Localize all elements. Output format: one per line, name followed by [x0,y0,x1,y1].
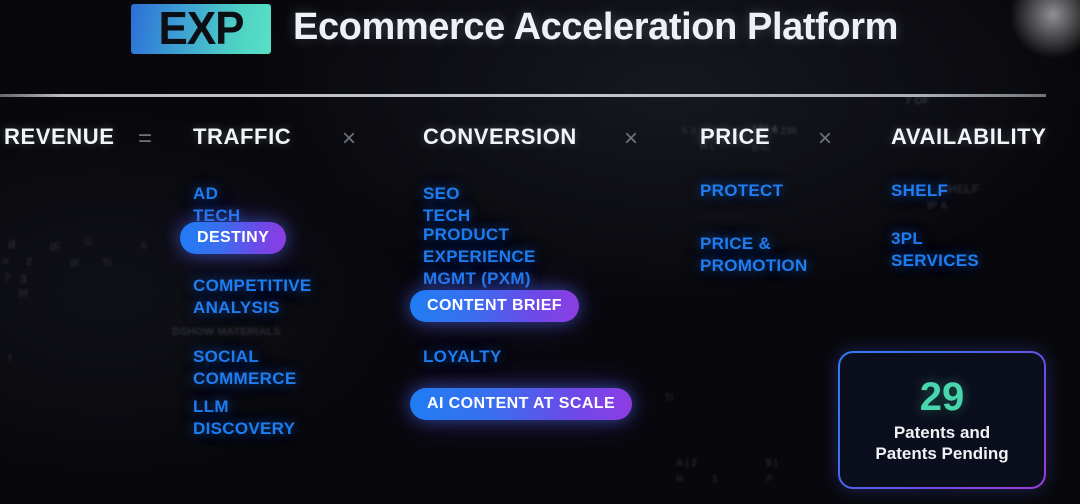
patents-card: 29 Patents and Patents Pending [838,351,1046,489]
background-artifact-text: 5 | [766,458,777,469]
item-social-commerce: SOCIAL COMMERCE [193,346,296,390]
item-llm-discovery: LLM DISCOVERY [193,396,295,440]
header-divider [0,94,1046,97]
logo-glare-icon [1008,0,1080,60]
background-artifact-text: DSHOW MATERIALS [172,326,281,338]
background-artifact-text: 1 [712,474,718,485]
background-artifact-text: t [8,352,12,364]
item-ad-tech: AD TECH [193,183,240,227]
background-artifact-text: 3 [20,272,27,286]
background-artifact-text: P [766,474,773,485]
exp-logo: EXP [131,4,271,54]
background-artifact-text: 4 [140,240,146,252]
background-artifact-text: 7 [4,272,10,284]
patents-count: 29 [920,377,965,417]
patents-card-inner: 29 Patents and Patents Pending [840,353,1044,487]
operator-multiply-icon: × [342,125,356,153]
slide-header: EXP Ecommerce Acceleration Platform [0,0,1080,95]
item-price-promotion: PRICE & PROMOTION [700,233,808,277]
background-artifact-text: Ti [664,392,674,404]
background-artifact-text: A | 2 [676,458,697,469]
equation-term-price: PRICE [700,124,770,150]
background-artifact-text: iF [50,240,61,254]
item-competitive-analysis: COMPETITIVE ANALYSIS [193,275,312,319]
operator-multiply-icon: × [624,125,638,153]
item-shelf: SHELF [891,180,948,202]
background-artifact-text: H [676,474,683,485]
background-artifact-text: iF [70,258,80,270]
operator-multiply-icon: × [818,125,832,153]
equation-header-row: REVENUETRAFFICCONVERSIONPRICEAVAILABILIT… [0,124,1080,158]
exp-logo-text: EXP [158,6,243,53]
item-product-experience-mgmt-pxm: PRODUCT EXPERIENCE MGMT (PXM) [423,224,536,290]
item-3pl-services: 3PL SERVICES [891,228,979,272]
item-loyalty: LOYALTY [423,346,502,368]
item-protect: PROTECT [700,180,783,202]
item-seo-tech: SEO TECH [423,183,470,227]
pill-destiny[interactable]: DESTINY [180,222,286,254]
background-artifact-text: 2 [26,256,32,268]
background-artifact-text: 9f [18,288,28,300]
background-artifact-text: if [8,238,15,252]
slide-canvas: 7 OF123 40 236H Lh ---5 3SHELFIP AifiFG4… [0,0,1080,504]
pill-content-brief[interactable]: CONTENT BRIEF [410,290,579,322]
equation-term-traffic: TRAFFIC [193,124,291,150]
background-artifact-text: G [84,236,93,248]
equation-term-conversion: CONVERSION [423,124,577,150]
page-title: Ecommerce Acceleration Platform [293,6,898,49]
equation-term-availability: AVAILABILITY [891,124,1047,150]
equation-term-revenue: REVENUE [4,124,115,150]
pill-ai-content-at-scale[interactable]: AI CONTENT AT SCALE [410,388,632,420]
operator-equals-icon: = [138,125,152,153]
patents-label: Patents and Patents Pending [875,422,1008,464]
background-artifact-text: ≡ [2,254,9,268]
background-artifact-text: Ti [102,258,112,270]
